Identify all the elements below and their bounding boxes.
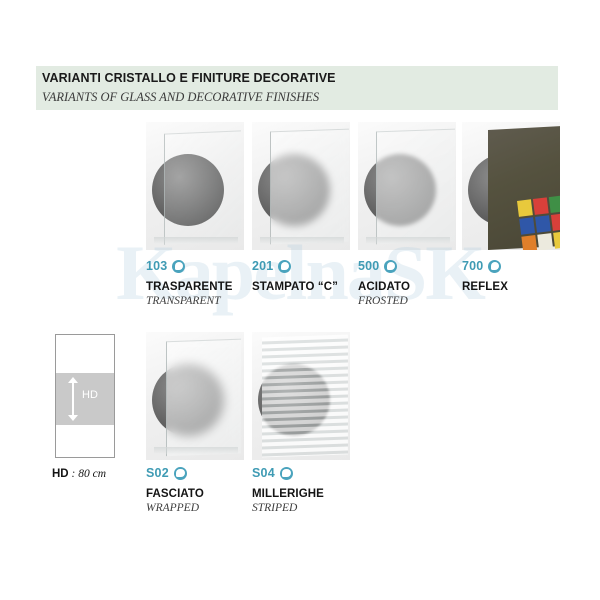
finish-swatch-icon — [172, 260, 185, 273]
hd-caption-value: 80 cm — [78, 468, 106, 480]
sample-tile-S04[interactable] — [252, 332, 350, 460]
finish-name-italian: TRASPARENTE — [146, 281, 233, 293]
finish-code-row: 201 — [252, 258, 338, 274]
finish-name-italian: MILLERIGHE — [252, 488, 324, 500]
hd-caption-separator: : — [69, 468, 79, 480]
finish-code-row: 500 — [358, 258, 410, 274]
sample-scene — [146, 122, 244, 250]
sample-tile-700[interactable] — [462, 122, 560, 250]
swatch — [521, 235, 537, 250]
color-reference-chart — [517, 195, 560, 250]
sample-tile-500[interactable] — [358, 122, 456, 250]
sample-scene — [252, 332, 350, 460]
glass-pane-base — [154, 447, 238, 454]
swatch — [551, 213, 560, 231]
glass-pane-base — [154, 237, 238, 244]
finish-label-103: 103 TRASPARENTE TRANSPARENT — [146, 258, 233, 307]
glass-pane-wrapped — [166, 339, 241, 457]
glass-pane-base — [366, 237, 450, 244]
finish-name-italian: STAMPATO “C” — [252, 281, 338, 293]
finish-name-italian: FASCIATO — [146, 488, 204, 500]
glass-pane-base — [260, 237, 344, 244]
section-title-english: VARIANTS OF GLASS AND DECORATIVE FINISHE… — [42, 90, 319, 105]
finish-label-201: 201 STAMPATO “C” — [252, 258, 338, 295]
sample-tile-103[interactable] — [146, 122, 244, 250]
catalog-page: KapelnaSK VARIANTI CRISTALLO E FINITURE … — [0, 0, 600, 600]
finish-swatch-icon — [280, 467, 293, 480]
finish-name-english: WRAPPED — [146, 502, 204, 514]
sample-scene — [358, 122, 456, 250]
swatch — [553, 231, 560, 249]
glass-pane-printed — [270, 129, 349, 245]
swatch — [519, 217, 535, 235]
hd-dimension-arrow-icon — [68, 377, 78, 421]
hd-caption-key: HD — [52, 468, 69, 480]
finish-name-english: TRANSPARENT — [146, 295, 233, 307]
sample-scene — [252, 122, 350, 250]
arrow-head-down — [68, 415, 78, 421]
finish-swatch-icon — [384, 260, 397, 273]
finish-code: 500 — [358, 259, 379, 273]
finish-code-row: S02 — [146, 465, 204, 481]
swatch — [549, 195, 560, 213]
glass-pane-frosted — [376, 129, 455, 245]
sample-tile-201[interactable] — [252, 122, 350, 250]
swatch — [535, 215, 551, 233]
finish-name-english: FROSTED — [358, 295, 410, 307]
finish-label-S02: S02 FASCIATO WRAPPED — [146, 465, 204, 514]
hd-inner-label: HD — [82, 389, 98, 401]
finish-code-row: S04 — [252, 465, 324, 481]
hd-diagram: HD — [55, 334, 115, 458]
finish-code: S02 — [146, 466, 169, 480]
finish-swatch-icon — [174, 467, 187, 480]
glass-pane-striped — [262, 334, 348, 457]
hd-caption: HD : 80 cm — [52, 468, 106, 480]
swatch — [517, 199, 533, 217]
sample-tile-S02[interactable] — [146, 332, 244, 460]
finish-name-italian: REFLEX — [462, 281, 508, 293]
finish-code-row: 103 — [146, 258, 233, 274]
finish-code-row: 700 — [462, 258, 508, 274]
finish-label-500: 500 ACIDATO FROSTED — [358, 258, 410, 307]
finish-code: 700 — [462, 259, 483, 273]
arrow-shaft — [72, 382, 74, 416]
finish-name-english: STRIPED — [252, 502, 324, 514]
finish-label-S04: S04 MILLERIGHE STRIPED — [252, 465, 324, 514]
finish-swatch-icon — [278, 260, 291, 273]
finish-swatch-icon — [488, 260, 501, 273]
swatch — [537, 233, 553, 250]
finish-code: 201 — [252, 259, 273, 273]
finish-label-700: 700 REFLEX — [462, 258, 508, 295]
finish-code: 103 — [146, 259, 167, 273]
sample-scene — [462, 122, 560, 250]
finish-name-italian: ACIDATO — [358, 281, 410, 293]
section-title-italian: VARIANTI CRISTALLO E FINITURE DECORATIVE — [42, 71, 336, 85]
finish-code: S04 — [252, 466, 275, 480]
glass-pane-clear — [164, 130, 241, 244]
swatch — [533, 197, 549, 215]
sample-scene — [146, 332, 244, 460]
